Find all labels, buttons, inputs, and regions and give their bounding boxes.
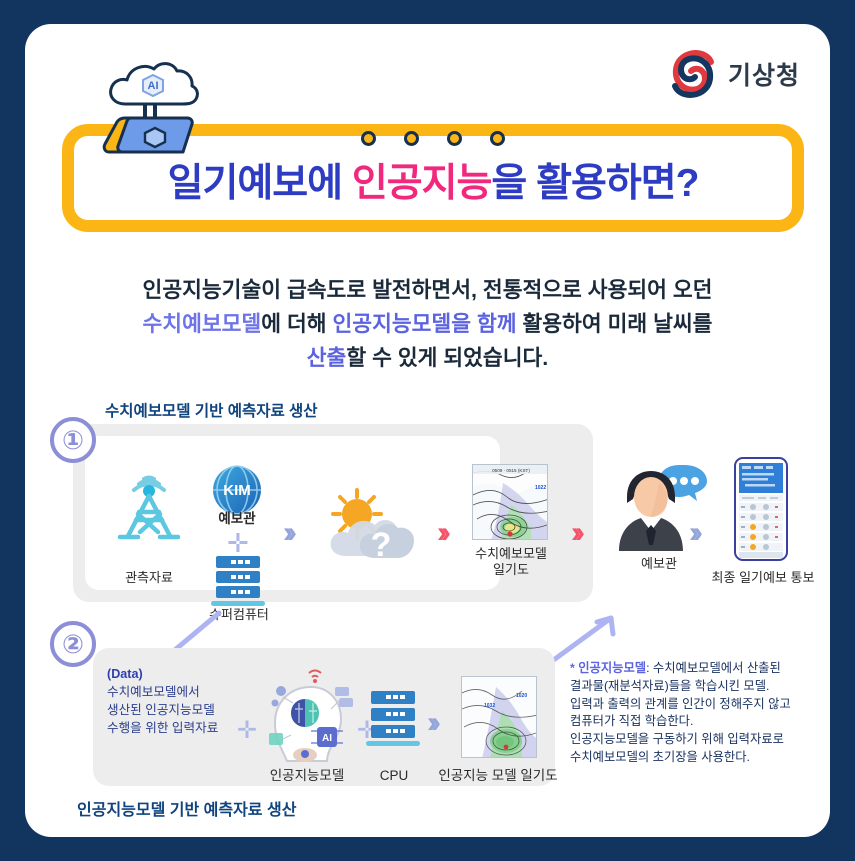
- section2-footer-heading: 인공지능모델 기반 예측자료 생산: [77, 796, 296, 820]
- forecaster-person-icon: [613, 459, 723, 556]
- lead-highlight-output: 산출: [307, 346, 347, 370]
- sun-cloud-question-icon: ?: [313, 486, 433, 571]
- footnote-line-5: 인공지능모델을 구동하기 위해 입력자료로: [570, 731, 832, 749]
- data-line-3: 수행을 위한 입력자료: [107, 720, 239, 738]
- label-kim-forecaster: 예보관: [201, 511, 273, 528]
- footnote-line-4: 컴퓨터가 직접 학습한다.: [570, 713, 832, 731]
- label-observation-data: 관측자료: [93, 570, 205, 586]
- kma-logo-text: 기상청: [728, 56, 800, 92]
- section1-heading: 수치예보모델 기반 예측자료 생산: [105, 399, 318, 421]
- footnote-line-1: * 인공지능모델: 수치예보모델에서 산출된: [570, 660, 832, 678]
- lead-line-2-end: 활용하여 미래 날씨를: [517, 312, 713, 336]
- dot-4: [490, 131, 505, 146]
- ai-weather-chart-icon: 1032 1020: [461, 676, 537, 758]
- lead-line-1: 인공지능기술이 급속도로 발전하면서, 전통적으로 사용되어 오던: [70, 274, 785, 308]
- chevron-red-2: ››: [571, 516, 579, 550]
- label-nwp-chart-l2: 일기도: [467, 562, 555, 578]
- svg-text:1032: 1032: [484, 703, 495, 709]
- mobile-forecast-app-icon: [733, 456, 789, 567]
- lead-line-2: 수치예보모델에 더해 인공지능모델을 함께 활용하여 미래 날씨를: [70, 308, 785, 342]
- svg-text:0509 · 0515 (KST): 0509 · 0515 (KST): [492, 468, 530, 473]
- supercomputer-icon: [209, 554, 267, 615]
- svg-text:1020: 1020: [516, 693, 527, 699]
- section2-badge: ②: [50, 621, 96, 667]
- ai-cloud-laptop-icon: AI: [87, 54, 227, 172]
- weather-chart-icon: 0509 · 0515 (KST) 1022: [472, 464, 548, 540]
- kma-logo: 기상청: [667, 48, 800, 100]
- svg-text:AI: AI: [148, 80, 159, 92]
- data-line-1: 수치예보모델에서: [107, 684, 239, 702]
- footnote-line-2: 결과물(재분석자료)들을 학습시킨 모델.: [570, 678, 832, 696]
- infographic-card: 기상청 AI: [25, 24, 830, 837]
- plus-sign-2: ✛: [237, 716, 257, 745]
- svg-text:?: ?: [371, 526, 392, 564]
- footnote-key: * 인공지능모델: [570, 661, 646, 675]
- header: 기상청 AI: [25, 24, 830, 254]
- title-part-3: 을 활용하면?: [491, 162, 698, 205]
- lead-line-3: 산출할 수 있게 되었습니다.: [70, 342, 785, 376]
- ai-model-brain-icon: AI: [257, 669, 353, 770]
- chevron-blue-3: ››: [427, 706, 435, 740]
- radar-tower-icon: [108, 452, 190, 549]
- footnote-line-3: 입력과 출력의 관계를 인간이 정해주지 않고: [570, 696, 832, 714]
- lead-paragraph: 인공지능기술이 급속도로 발전하면서, 전통적으로 사용되어 오던 수치예보모델…: [70, 274, 785, 376]
- dot-1: [361, 131, 376, 146]
- footnote-block: * 인공지능모델: 수치예보모델에서 산출된 결과물(재분석자료)들을 학습시킨…: [570, 660, 832, 767]
- label-final-forecast: 최종 일기예보 통보: [703, 570, 823, 586]
- svg-text:KIM: KIM: [223, 482, 251, 499]
- section1-badge: ①: [50, 417, 96, 463]
- lead-highlight-nwp: 수치예보모델: [143, 312, 262, 336]
- taegeuk-logo-icon: [667, 48, 719, 100]
- label-nwp-chart: 수치예보모델 일기도: [467, 546, 555, 579]
- data-line-2: 생산된 인공지능모델: [107, 702, 239, 720]
- label-ai-model: 인공지능모델: [257, 768, 357, 785]
- dot-3: [447, 131, 462, 146]
- chevron-red-1: ››: [437, 516, 445, 550]
- lead-line-3-end: 할 수 있게 되었습니다.: [346, 346, 548, 370]
- label-nwp-chart-l1: 수치예보모델: [467, 546, 555, 562]
- label-ai-chart: 인공지능 모델 일기도: [423, 768, 573, 785]
- lead-line-2-mid: 에 더해: [261, 312, 332, 336]
- footnote-line-1-rest: : 수치예보모델에서 산출된: [646, 661, 781, 675]
- lead-highlight-ai: 인공지능모델을 함께: [333, 312, 517, 336]
- chevron-blue-2: ››: [689, 516, 697, 550]
- data-title: (Data): [107, 666, 239, 684]
- title-part-2: 인공지능: [352, 162, 492, 205]
- chevron-blue-1: ››: [283, 516, 291, 550]
- svg-text:1022: 1022: [535, 485, 546, 491]
- dot-2: [404, 131, 419, 146]
- footnote-line-6: 수치예보모델의 초기장을 사용한다.: [570, 749, 832, 767]
- label-cpu: CPU: [361, 768, 427, 785]
- cpu-server-icon: [365, 689, 421, 756]
- section2-data-text: (Data) 수치예보모델에서 생산된 인공지능모델 수행을 위한 입력자료: [107, 666, 239, 738]
- label-forecaster: 예보관: [621, 556, 697, 572]
- svg-text:AI: AI: [322, 733, 332, 744]
